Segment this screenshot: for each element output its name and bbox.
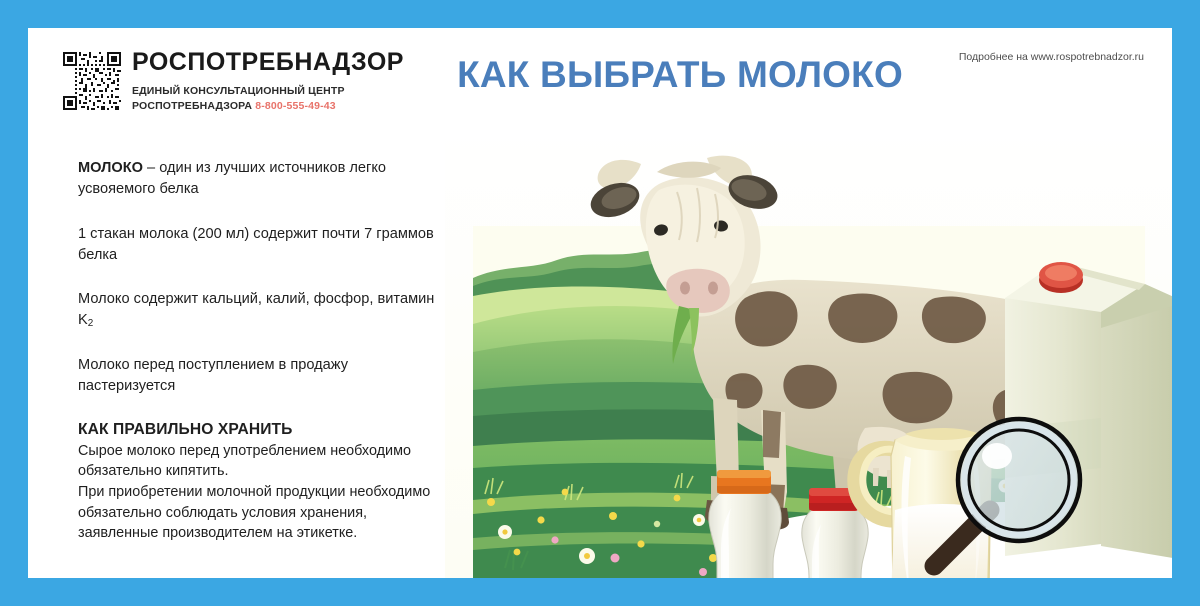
info-text-column: МОЛОКО – один из лучших источников легко…: [78, 158, 438, 544]
storage-line-4: обязательно соблюдать условия хранения,: [78, 503, 438, 524]
brand-subtitle-line1: ЕДИНЫЙ КОНСУЛЬТАЦИОННЫЙ ЦЕНТР: [132, 84, 404, 99]
storage-section-heading: КАК ПРАВИЛЬНО ХРАНИТЬ: [78, 421, 438, 439]
fact-3-text: Молоко содержит кальций, калий, фосфор, …: [78, 291, 434, 328]
illustration-panel: [445, 128, 1172, 578]
fact-paragraph-4: Молоко перед поступлением в продажу паст…: [78, 355, 438, 398]
magnifier-lens: [958, 419, 1080, 541]
brand-name: РОСПОТРЕБНАДЗОР: [132, 50, 404, 75]
vitamin-k-subscript: 2: [88, 319, 94, 330]
milk-bottle-orange-cap: [709, 470, 781, 578]
hotline-phone-number[interactable]: 8-800-555-49-43: [255, 100, 335, 112]
fact-paragraph-3: Молоко содержит кальций, калий, фосфор, …: [78, 289, 438, 332]
lens-highlight: [982, 443, 1012, 469]
milk-farm-illustration: [445, 128, 1172, 578]
poster-card: РОСПОТРЕБНАДЗОР ЕДИНЫЙ КОНСУЛЬТАЦИОННЫЙ …: [28, 28, 1172, 578]
brand-block: РОСПОТРЕБНАДЗОР ЕДИНЫЙ КОНСУЛЬТАЦИОННЫЙ …: [132, 50, 404, 114]
brand-subtitle-line2: РОСПОТРЕБНАДЗОРА 8-800-555-49-43: [132, 99, 404, 114]
storage-line-2: обязательно кипятить.: [78, 461, 438, 482]
page-title: КАК ВЫБРАТЬ МОЛОКО: [445, 54, 915, 96]
qr-code-icon: [63, 52, 121, 110]
storage-line-1: Сырое молоко перед употреблением необход…: [78, 441, 438, 462]
website-link[interactable]: Подробнее на www.rospotrebnadzor.ru: [959, 51, 1144, 63]
fact-paragraph-2: 1 стакан молока (200 мл) содержит почти …: [78, 224, 438, 267]
brand-subtitle-org: РОСПОТРЕБНАДЗОРА: [132, 100, 252, 112]
storage-line-3: При приобретении молочной продукции необ…: [78, 482, 438, 503]
storage-line-5: заявленные производителем на этикетке.: [78, 523, 438, 544]
fact-paragraph-1: МОЛОКО – один из лучших источников легко…: [78, 158, 438, 201]
poster-root: РОСПОТРЕБНАДЗОР ЕДИНЫЙ КОНСУЛЬТАЦИОННЫЙ …: [0, 0, 1200, 606]
fact-1-lead: МОЛОКО: [78, 160, 143, 176]
